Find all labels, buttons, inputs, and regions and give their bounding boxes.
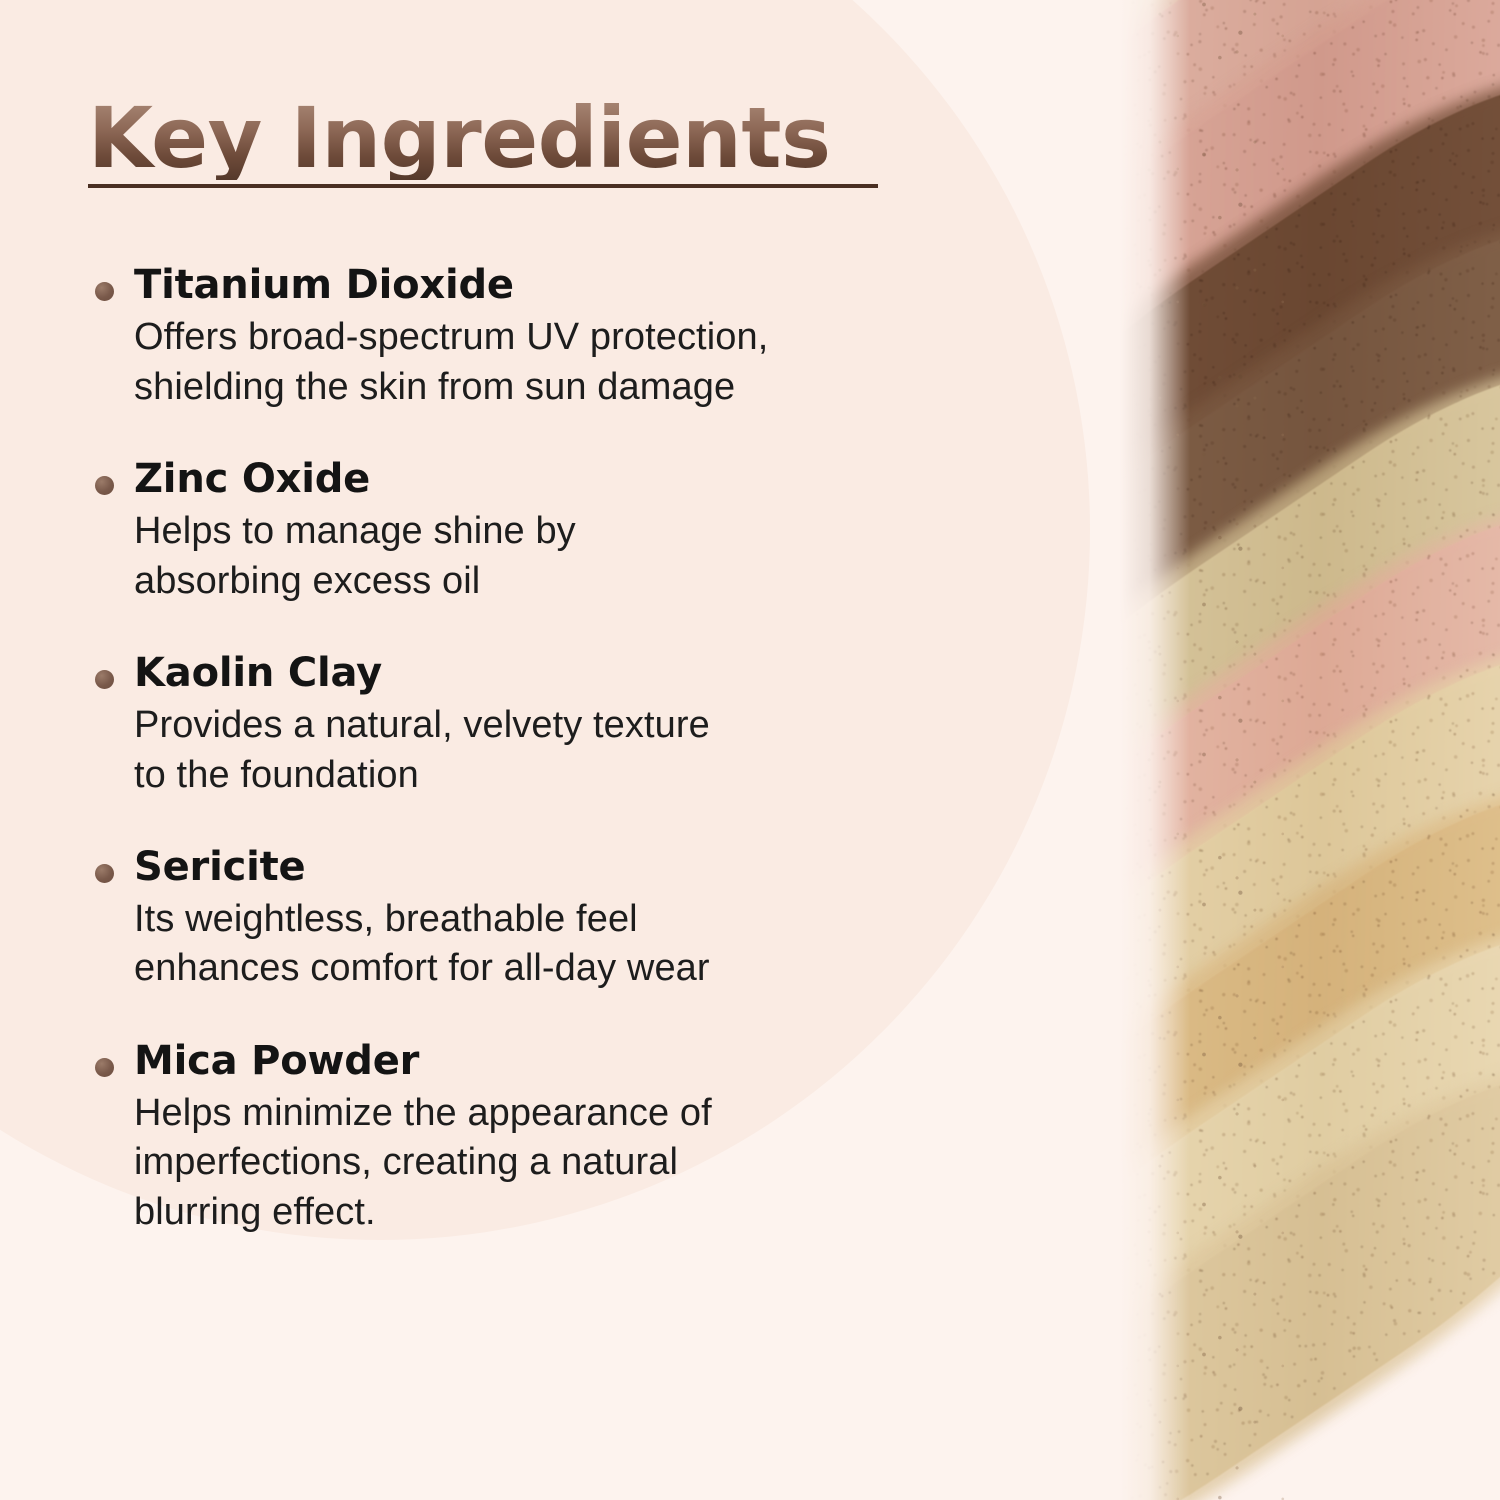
ingredient-item: Kaolin ClayProvides a natural, velvety t… bbox=[88, 650, 988, 800]
ingredient-name: Zinc Oxide bbox=[134, 456, 988, 503]
ingredient-item: Mica PowderHelps minimize the appearance… bbox=[88, 1038, 988, 1237]
key-ingredients-infographic: Key Ingredients Titanium DioxideOffers b… bbox=[0, 0, 1500, 1500]
bullet-dot-icon bbox=[95, 1058, 114, 1077]
ingredient-name: Kaolin Clay bbox=[134, 650, 988, 697]
swatch-left-fade bbox=[1120, 0, 1190, 1500]
ingredient-description: Helps to manage shine by absorbing exces… bbox=[134, 507, 988, 606]
bullet-dot-icon bbox=[95, 476, 114, 495]
ingredient-description: Offers broad-spectrum UV protection, shi… bbox=[134, 313, 988, 412]
powder-swatch-image bbox=[1120, 0, 1500, 1500]
title-block: Key Ingredients bbox=[88, 96, 888, 188]
ingredient-name: Sericite bbox=[134, 844, 988, 891]
ingredient-description: Provides a natural, velvety texture to t… bbox=[134, 701, 988, 800]
ingredient-description: Its weightless, breathable feel enhances… bbox=[134, 895, 988, 994]
page-title: Key Ingredients bbox=[88, 96, 888, 180]
bullet-dot-icon bbox=[95, 670, 114, 689]
bullet-dot-icon bbox=[95, 864, 114, 883]
ingredient-item: Zinc OxideHelps to manage shine by absor… bbox=[88, 456, 988, 606]
ingredient-name: Mica Powder bbox=[134, 1038, 988, 1085]
ingredient-item: Titanium DioxideOffers broad-spectrum UV… bbox=[88, 262, 988, 412]
ingredient-name: Titanium Dioxide bbox=[134, 262, 988, 309]
ingredient-item: SericiteIts weightless, breathable feel … bbox=[88, 844, 988, 994]
ingredients-list: Titanium DioxideOffers broad-spectrum UV… bbox=[88, 262, 988, 1237]
bullet-dot-icon bbox=[95, 282, 114, 301]
content-column: Key Ingredients Titanium DioxideOffers b… bbox=[0, 0, 1060, 1500]
ingredient-description: Helps minimize the appearance of imperfe… bbox=[134, 1089, 988, 1237]
